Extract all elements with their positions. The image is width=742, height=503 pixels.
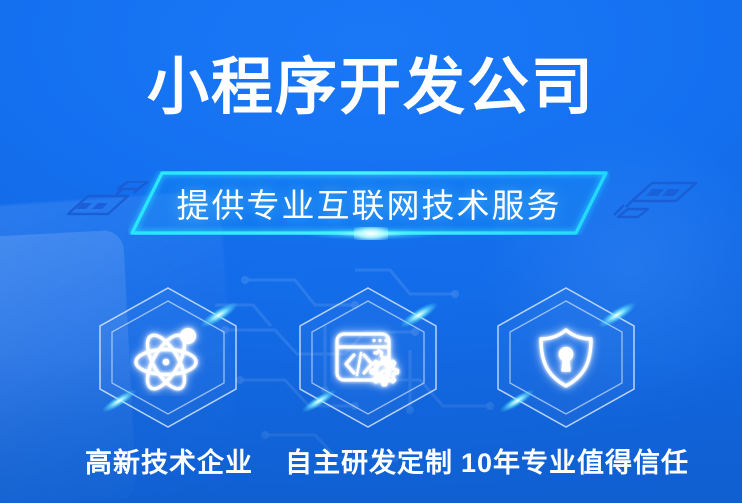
angled-lines-decoration-right (600, 179, 704, 225)
feature-label-2: 自主研发定制 (283, 441, 455, 480)
page-title: 小程序开发公司 (0, 57, 742, 119)
feature-item-3 (491, 285, 641, 430)
feature-item-2 (293, 285, 443, 430)
feature-label-1: 高新技术企业 (83, 441, 255, 480)
code-window-gear-icon (330, 320, 406, 396)
shield-lock-icon (528, 320, 604, 396)
subtitle-flare-core (354, 227, 388, 240)
promo-banner: 小程序开发公司 提供专业互联网技术服务 (0, 0, 742, 503)
feature-label-row: 高新技术企业 自主研发定制 10年专业值得信任 (0, 441, 742, 481)
angled-lines-decoration-left (62, 181, 166, 223)
feature-item-1 (93, 285, 243, 430)
feature-label-3: 10年专业值得信任 (461, 441, 686, 480)
atom-icon (130, 320, 206, 396)
feature-hex-row (0, 285, 742, 430)
